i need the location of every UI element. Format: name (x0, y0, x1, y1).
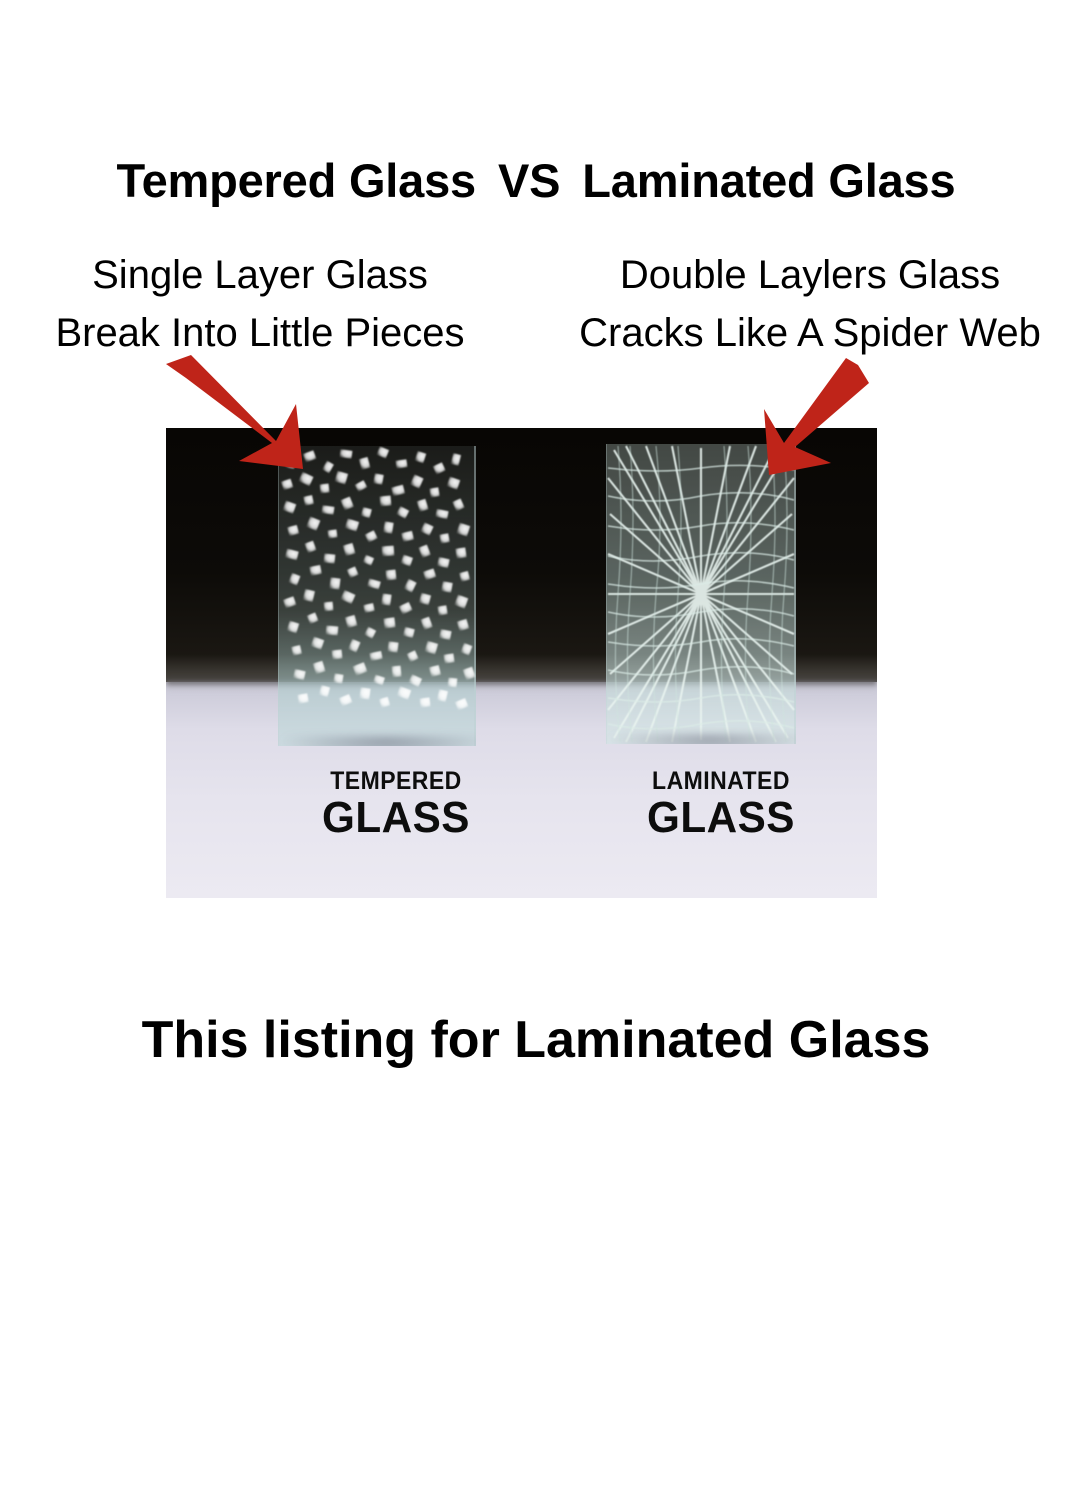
photo-caption-tempered-big: GLASS (300, 795, 492, 840)
headline-separator: VS (498, 154, 560, 207)
laminated-panel-shadow (610, 734, 796, 744)
subtitle-column-tempered: Single Layer Glass Break Into Little Pie… (0, 246, 528, 362)
comparison-photo: TEMPERED GLASS LAMINATED GLASS (166, 428, 877, 898)
listing-note: This listing for Laminated Glass (0, 1008, 1072, 1072)
laminated-crack-pattern (606, 444, 796, 744)
photo-caption-laminated: LAMINATED GLASS (616, 768, 826, 840)
subtitle-column-laminated: Double Laylers Glass Cracks Like A Spide… (542, 246, 1072, 362)
tempered-subtitle-line-2: Break Into Little Pieces (0, 304, 528, 362)
subtitle-row: Single Layer Glass Break Into Little Pie… (0, 246, 1072, 362)
tempered-panel-shadow (282, 736, 476, 746)
laminated-subtitle-line-1: Double Laylers Glass (542, 246, 1072, 304)
photo-caption-tempered-small: TEMPERED (304, 768, 488, 795)
photo-caption-tempered: TEMPERED GLASS (296, 768, 496, 840)
page-title: Tempered GlassVSLaminated Glass (0, 152, 1072, 210)
photo-caption-laminated-small: LAMINATED (624, 768, 817, 795)
photo-caption-laminated-big: GLASS (620, 795, 822, 840)
laminated-glass-panel (606, 444, 796, 744)
tempered-glass-panel (278, 446, 476, 746)
tempered-shatter-pattern (278, 446, 476, 746)
tempered-subtitle-line-1: Single Layer Glass (0, 246, 528, 304)
poster-canvas: Tempered GlassVSLaminated Glass Single L… (0, 0, 1072, 1500)
headline-right-term: Laminated Glass (582, 154, 955, 207)
headline-left-term: Tempered Glass (117, 154, 476, 207)
laminated-subtitle-line-2: Cracks Like A Spider Web (542, 304, 1072, 362)
